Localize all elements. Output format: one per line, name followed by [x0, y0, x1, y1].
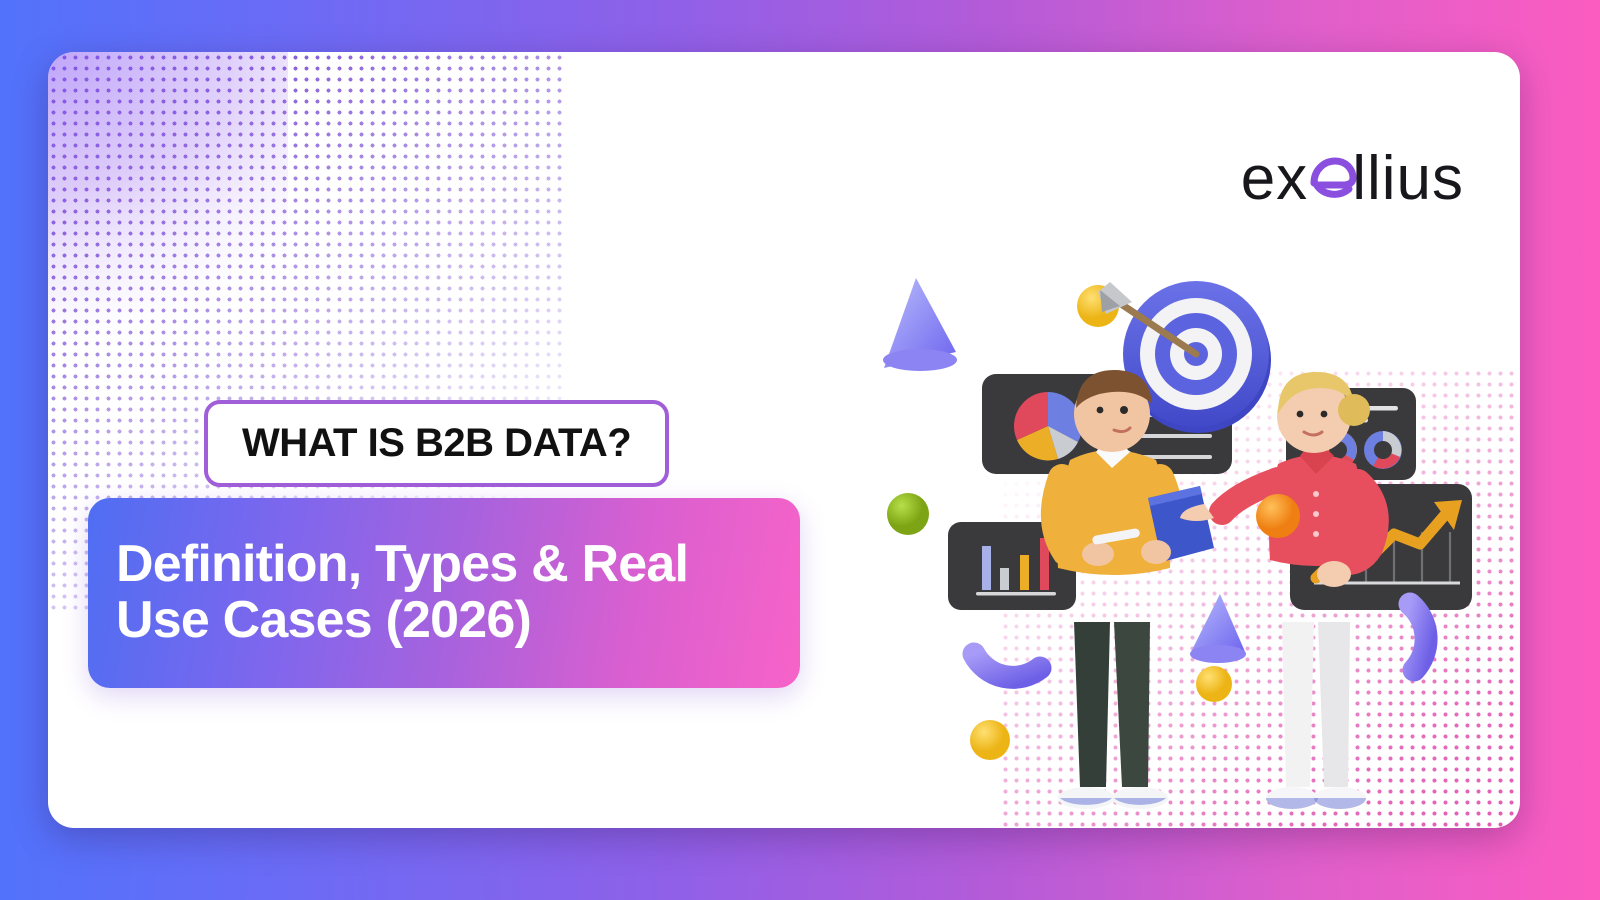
man-hand-left: [1082, 542, 1114, 566]
man-hand-right: [1141, 540, 1171, 564]
bar-1: [982, 546, 991, 590]
woman-shoe-right-sole: [1314, 798, 1366, 809]
shape-cone-purple-top: [883, 278, 957, 371]
headline-line-1: Definition, Types & Real: [116, 536, 772, 592]
shape-arc-purple-right: [1410, 604, 1426, 670]
headline-line-2: Use Cases (2026): [116, 592, 772, 648]
logo-e-mark-icon: [1308, 155, 1352, 199]
logo-text-after: llius: [1352, 148, 1464, 210]
man-leg-left: [1074, 622, 1110, 787]
donut-right: [1364, 431, 1402, 469]
shape-sphere-yellow-bottom-right: [1196, 666, 1232, 702]
brand-logo[interactable]: ex llius: [1241, 148, 1464, 210]
woman-leg-right: [1318, 622, 1350, 787]
eyebrow-badge: WHAT IS B2B DATA?: [204, 400, 669, 487]
shape-cone-purple-mid: [1190, 594, 1246, 663]
illustration-svg: [848, 202, 1488, 828]
poster-canvas: ex llius WHAT IS B2B DATA? Definition, T…: [0, 0, 1600, 900]
woman-leg-left: [1282, 622, 1314, 787]
headline-block: Definition, Types & Real Use Cases (2026…: [88, 498, 800, 688]
man-leg-right: [1114, 622, 1150, 787]
logo-text-before: ex: [1241, 148, 1308, 210]
shape-sphere-green: [887, 493, 929, 535]
content-card: ex llius WHAT IS B2B DATA? Definition, T…: [48, 52, 1520, 828]
woman-hair-bun: [1338, 394, 1370, 426]
woman-shoe-left-sole: [1266, 798, 1318, 809]
bar-3: [1020, 555, 1029, 590]
halftone-glow-top-left: [48, 52, 288, 382]
hero-illustration: [848, 202, 1488, 828]
shape-sphere-orange: [1256, 494, 1300, 538]
shape-sphere-yellow-bottom-left: [970, 720, 1010, 760]
pie-chart: [1014, 392, 1082, 460]
woman-hand-hip: [1317, 561, 1351, 587]
bar-2: [1000, 568, 1009, 590]
shape-arc-purple-left: [974, 654, 1040, 677]
